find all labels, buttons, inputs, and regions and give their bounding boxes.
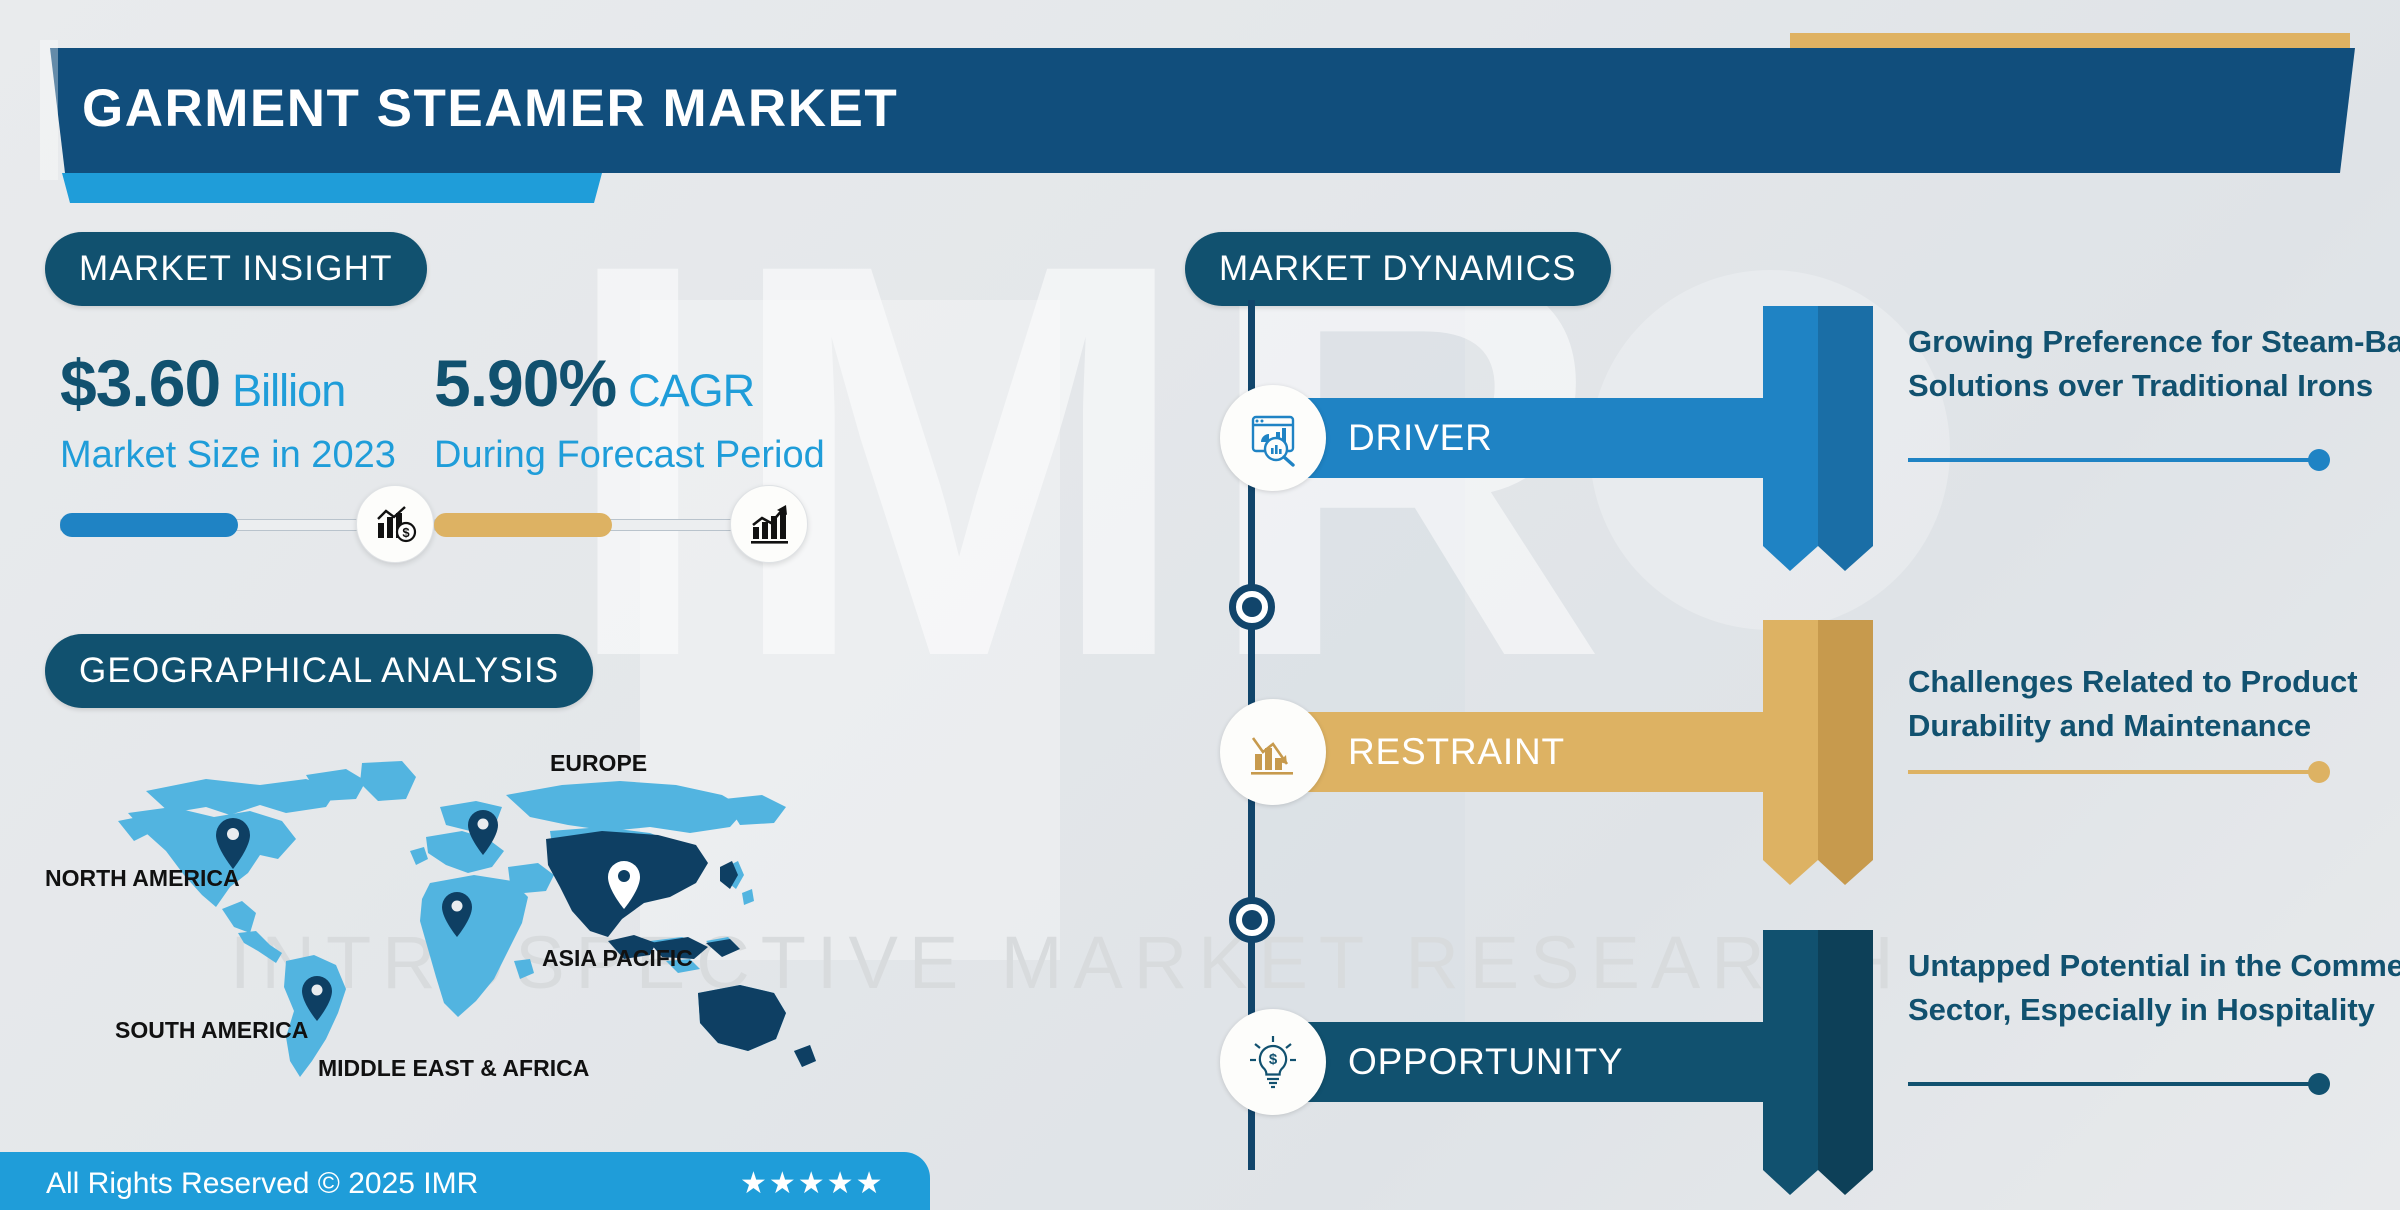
opportunity-label: OPPORTUNITY (1348, 1022, 1623, 1102)
restraint-underline (1908, 770, 2318, 774)
map-label-north-america: NORTH AMERICA (45, 865, 240, 892)
timeline-node-1 (1229, 584, 1275, 630)
report-search-icon (1220, 385, 1326, 491)
svg-text:$: $ (1269, 1051, 1278, 1068)
declining-chart-icon (1220, 699, 1326, 805)
svg-text:$: $ (402, 525, 410, 540)
opportunity-underline (1908, 1082, 2318, 1086)
market-dynamics-heading: MARKET DYNAMICS (1185, 232, 1611, 306)
kpi-market-size-unit: Billion (232, 365, 345, 416)
driver-description: Growing Preference for Steam-Based Solut… (1908, 320, 2400, 408)
map-label-asia-pacific: ASIA PACIFIC (542, 945, 693, 972)
driver-ribbon (1763, 306, 1873, 571)
timeline-node-2 (1229, 897, 1275, 943)
kpi-cagr-caption: During Forecast Period (434, 434, 825, 477)
kpi-market-size: $3.60Billion Market Size in 2023 $ (60, 350, 396, 537)
kpi-cagr: 5.90%CAGR During Forecast Period (434, 350, 825, 537)
restraint-description: Challenges Related to Product Durability… (1908, 660, 2400, 748)
restraint-label: RESTRAINT (1348, 712, 1565, 792)
map-label-south-america: SOUTH AMERICA (115, 1017, 308, 1044)
title-left-edge (40, 40, 58, 180)
market-insight-heading: MARKET INSIGHT (45, 232, 427, 306)
opportunity-ribbon (1763, 930, 1873, 1195)
kpi-market-size-caption: Market Size in 2023 (60, 434, 396, 477)
restraint-ribbon (1763, 620, 1873, 885)
page-title: GARMENT STEAMER MARKET (82, 78, 898, 139)
kpi-cagr-unit: CAGR (628, 365, 754, 416)
restraint-end-dot (2308, 761, 2330, 783)
growth-chart-arrow-icon (730, 485, 808, 563)
footer-rating-stars: ★★★★★ (740, 1166, 884, 1201)
lightbulb-dollar-icon: $ (1220, 1009, 1326, 1115)
kpi-cagr-progress (434, 513, 764, 537)
title-underbar (62, 173, 602, 203)
driver-end-dot (2308, 449, 2330, 471)
kpi-cagr-value: 5.90% (434, 346, 616, 420)
progress-fill (60, 513, 238, 537)
kpi-cagr-value-row: 5.90%CAGR (434, 350, 825, 416)
driver-underline (1908, 458, 2318, 462)
progress-fill (434, 513, 612, 537)
kpi-market-size-value: $3.60 (60, 346, 220, 420)
opportunity-description: Untapped Potential in the Commercial Sec… (1908, 944, 2400, 1032)
footer-copyright: All Rights Reserved © 2025 IMR (46, 1167, 478, 1201)
background-panel-2 (1255, 250, 1465, 1080)
bar-chart-dollar-icon: $ (356, 485, 434, 563)
kpi-market-size-progress: $ (60, 513, 390, 537)
kpi-market-size-value-row: $3.60Billion (60, 350, 396, 416)
map-label-europe: EUROPE (550, 750, 647, 777)
geographical-analysis-heading: GEOGRAPHICAL ANALYSIS (45, 634, 593, 708)
infographic-canvas: IMR INTROSPECTIVE MARKET RESEARCH GARMEN… (0, 0, 2400, 1210)
driver-label: DRIVER (1348, 398, 1493, 478)
world-map: NORTH AMERICA SOUTH AMERICA EUROPE MIDDL… (110, 755, 830, 1095)
opportunity-end-dot (2308, 1073, 2330, 1095)
map-label-middle-east-africa: MIDDLE EAST & AFRICA (318, 1055, 589, 1082)
